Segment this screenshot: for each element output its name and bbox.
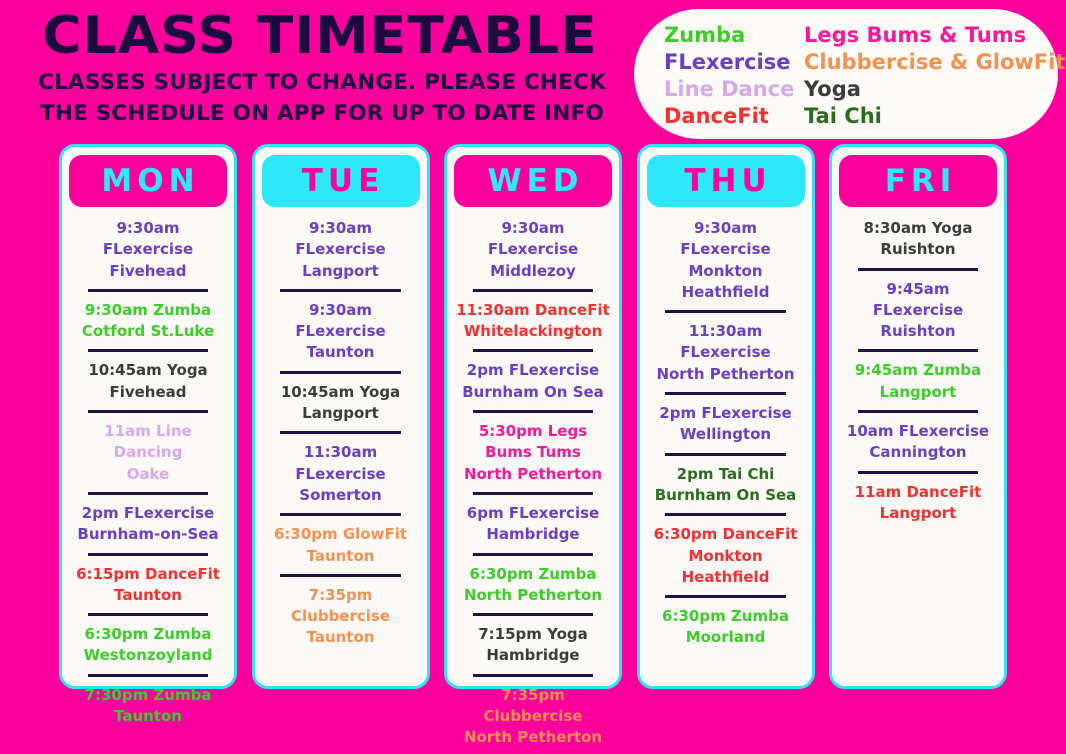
entry-divider [88,553,208,556]
entry-divider [473,349,593,352]
class-entry-location: Monkton Heathfield [649,546,803,589]
timetable-board: MON9:30am FLexerciseFivehead9:30am Zumba… [0,144,1066,689]
day-card-mon: MON9:30am FLexerciseFivehead9:30am Zumba… [59,144,237,689]
class-entry-time-and-name: 11:30am FLexercise [264,442,418,485]
entry-divider [88,289,208,292]
day-card-fri: FRI8:30am YogaRuishton9:45am FLexerciseR… [829,144,1007,689]
class-entry[interactable]: 6:30pm GlowFitTaunton [264,523,418,567]
class-entry-location: Westonzoyland [71,645,225,666]
class-entry-location: Burnham-on-Sea [71,524,225,545]
entry-divider [280,431,400,434]
day-header-tue: TUE [262,155,420,207]
class-entry-location: Somerton [264,485,418,506]
entry-divider [88,349,208,352]
class-entry[interactable]: 9:30am FLexerciseMiddlezoy [456,217,610,282]
class-entry[interactable]: 6:15pm DanceFitTaunton [71,563,225,607]
class-entry[interactable]: 11am Line DancingOake [71,420,225,485]
legend-item-zumba: Zumba [664,25,804,46]
entry-divider [473,410,593,413]
class-entry-location: North Petherton [456,727,610,748]
entry-divider [88,613,208,616]
class-entry-time-and-name: 9:45am Zumba [841,360,995,381]
header: CLASS TIMETABLE CLASSES SUBJECT TO CHANG… [0,0,640,142]
entry-divider [473,553,593,556]
class-entry-location: North Petherton [456,464,610,485]
day-header-mon: MON [69,155,227,207]
class-entry-location: Wellington [649,424,803,445]
class-list: 9:30am FLexerciseLangport9:30am FLexerci… [262,217,420,676]
entry-divider [88,410,208,413]
class-entry-time-and-name: 6:15pm DanceFit [71,564,225,585]
class-entry[interactable]: 7:30pm ZumbaTaunton [71,684,225,728]
class-entry-location: Taunton [264,342,418,363]
day-card-thu: THU9:30am FLexerciseMonkton Heathfield11… [637,144,815,689]
page-subtitle: CLASSES SUBJECT TO CHANGE. PLEASE CHECK … [18,68,626,129]
class-entry-time-and-name: 2pm Tai Chi [649,464,803,485]
class-entry[interactable]: 8:30am YogaRuishton [841,217,995,261]
entry-divider [280,289,400,292]
legend-grid: ZumbaLegs Bums & TumsFLexerciseClubberci… [664,22,1032,130]
class-entry-time-and-name: 2pm FLexercise [456,360,610,381]
class-entry-time-and-name: 7:15pm Yoga [456,624,610,645]
class-entry-location: Fivehead [71,382,225,403]
entry-divider [665,513,785,516]
class-entry[interactable]: 6:30pm ZumbaMoorland [649,605,803,649]
class-entry-time-and-name: 11:30am DanceFit [456,300,610,321]
class-entry-time-and-name: 6:30pm Zumba [71,624,225,645]
day-header-label: MON [96,166,199,197]
class-entry-time-and-name: 2pm FLexercise [71,503,225,524]
day-header-fri: FRI [839,155,997,207]
class-entry[interactable]: 2pm Tai ChiBurnham On Sea [649,463,803,507]
class-entry-location: Ruishton [841,239,995,260]
class-entry-time-and-name: 9:30am FLexercise [264,218,418,261]
class-entry-time-and-name: 9:30am FLexercise [456,218,610,261]
class-list: 9:30am FLexerciseFivehead9:30am ZumbaCot… [69,217,227,727]
entry-divider [473,613,593,616]
entry-divider [858,268,978,271]
class-entry[interactable]: 11:30am FLexerciseSomerton [264,441,418,506]
class-entry-location: Cotford St.Luke [71,321,225,342]
day-header-thu: THU [647,155,805,207]
class-entry[interactable]: 11:30am DanceFitWhitelackington [456,299,610,343]
class-entry[interactable]: 6:30pm ZumbaWestonzoyland [71,623,225,667]
entry-divider [88,492,208,495]
class-entry-location: Fivehead [71,261,225,282]
class-entry-location: Cannington [841,442,995,463]
class-entry[interactable]: 9:30am FLexerciseTaunton [264,299,418,364]
class-entry-location: Middlezoy [456,261,610,282]
class-entry[interactable]: 6:30pm ZumbaNorth Petherton [456,563,610,607]
class-entry-location: Langport [841,503,995,524]
class-entry-location: Langport [841,382,995,403]
class-entry-location: Oake [71,464,225,485]
entry-divider [88,674,208,677]
legend-item-flexercise: FLexercise [664,52,804,73]
class-entry-time-and-name: 5:30pm Legs Bums Tums [456,421,610,464]
class-entry-location: Taunton [71,706,225,727]
class-entry[interactable]: 7:15pm YogaHambridge [456,623,610,667]
class-entry-time-and-name: 10:45am Yoga [264,382,418,403]
class-entry-location: Moorland [649,627,803,648]
class-entry[interactable]: 2pm FLexerciseBurnham On Sea [456,359,610,403]
class-entry-time-and-name: 11:30am FLexercise [649,321,803,364]
page-title: CLASS TIMETABLE [0,10,650,62]
day-header-label: THU [679,166,771,197]
day-header-wed: WED [454,155,612,207]
class-entry[interactable]: 6:30pm DanceFitMonkton Heathfield [649,523,803,588]
class-entry-location: Taunton [264,627,418,648]
class-entry-location: Burnham On Sea [456,382,610,403]
class-entry[interactable]: 10am FLexerciseCannington [841,420,995,464]
class-entry-time-and-name: 6pm FLexercise [456,503,610,524]
class-entry-time-and-name: 6:30pm GlowFit [264,524,418,545]
class-entry-location: North Petherton [456,585,610,606]
class-entry-location: Taunton [71,585,225,606]
class-entry[interactable]: 10:45am YogaFivehead [71,359,225,403]
class-entry[interactable]: 9:30am FLexerciseLangport [264,217,418,282]
class-list: 8:30am YogaRuishton9:45am FLexerciseRuis… [839,217,997,676]
class-entry-time-and-name: 6:30pm DanceFit [649,524,803,545]
entry-divider [665,453,785,456]
class-entry-location: Hambridge [456,524,610,545]
entry-divider [858,410,978,413]
legend-item-clubbercise-glowfit: Clubbercise & GlowFit [804,52,1065,73]
class-entry[interactable]: 9:30am FLexerciseFivehead [71,217,225,282]
entry-divider [280,574,400,577]
class-entry[interactable]: 9:30am ZumbaCotford St.Luke [71,299,225,343]
class-entry-time-and-name: 10:45am Yoga [71,360,225,381]
class-list: 9:30am FLexerciseMiddlezoy11:30am DanceF… [454,217,612,749]
class-entry-time-and-name: 9:45am FLexercise [841,279,995,322]
legend-item-tai-chi: Tai Chi [804,106,1065,127]
class-entry-location: Taunton [264,546,418,567]
class-entry[interactable]: 2pm FLexerciseBurnham-on-Sea [71,502,225,546]
class-entry-time-and-name: 7:35pm Clubbercise [264,585,418,628]
legend-item-legs-bums-tums: Legs Bums & Tums [804,25,1065,46]
class-entry[interactable]: 11am DanceFitLangport [841,481,995,525]
class-entry-time-and-name: 9:30am FLexercise [264,300,418,343]
class-entry-time-and-name: 7:35pm Clubbercise [456,685,610,728]
class-entry-location: Burnham On Sea [649,485,803,506]
entry-divider [473,492,593,495]
class-entry-time-and-name: 9:30am FLexercise [649,218,803,261]
entry-divider [473,289,593,292]
class-entry[interactable]: 11:30am FLexerciseNorth Petherton [649,320,803,385]
entry-divider [280,371,400,374]
legend: ZumbaLegs Bums & TumsFLexerciseClubberci… [634,9,1058,139]
class-entry[interactable]: 10:45am YogaLangport [264,381,418,425]
class-entry-location: Ruishton [841,321,995,342]
class-entry-time-and-name: 9:30am FLexercise [71,218,225,261]
legend-item-yoga: Yoga [804,79,1065,100]
day-header-label: WED [482,166,583,197]
class-entry-time-and-name: 6:30pm Zumba [456,564,610,585]
class-entry[interactable]: 2pm FLexerciseWellington [649,402,803,446]
entry-divider [665,595,785,598]
day-card-wed: WED9:30am FLexerciseMiddlezoy11:30am Dan… [444,144,622,689]
class-entry-time-and-name: 8:30am Yoga [841,218,995,239]
day-card-tue: TUE9:30am FLexerciseLangport9:30am FLexe… [252,144,430,689]
class-entry[interactable]: 5:30pm Legs Bums TumsNorth Petherton [456,420,610,485]
class-entry-location: North Petherton [649,364,803,385]
class-entry[interactable]: 9:45am FLexerciseRuishton [841,278,995,343]
entry-divider [473,674,593,677]
class-entry[interactable]: 9:30am FLexerciseMonkton Heathfield [649,217,803,303]
class-entry[interactable]: 6pm FLexerciseHambridge [456,502,610,546]
entry-divider [280,513,400,516]
legend-item-line-dance: Line Dance [664,79,804,100]
class-entry-time-and-name: 2pm FLexercise [649,403,803,424]
legend-item-dancefit: DanceFit [664,106,804,127]
class-entry-location: Monkton Heathfield [649,261,803,304]
class-entry-location: Langport [264,261,418,282]
class-entry-time-and-name: 7:30pm Zumba [71,685,225,706]
entry-divider [665,392,785,395]
class-entry-time-and-name: 11am DanceFit [841,482,995,503]
day-header-label: FRI [880,166,957,197]
class-entry[interactable]: 9:45am ZumbaLangport [841,359,995,403]
class-entry[interactable]: 7:35pm ClubberciseNorth Petherton [456,684,610,749]
entry-divider [665,310,785,313]
class-entry-time-and-name: 10am FLexercise [841,421,995,442]
class-entry-location: Langport [264,403,418,424]
class-entry-time-and-name: 9:30am Zumba [71,300,225,321]
entry-divider [858,349,978,352]
class-list: 9:30am FLexerciseMonkton Heathfield11:30… [647,217,805,676]
class-entry[interactable]: 7:35pm ClubberciseTaunton [264,584,418,649]
day-header-label: TUE [297,166,385,197]
class-entry-location: Whitelackington [456,321,610,342]
entry-divider [858,471,978,474]
class-entry-time-and-name: 6:30pm Zumba [649,606,803,627]
class-entry-location: Hambridge [456,645,610,666]
class-entry-time-and-name: 11am Line Dancing [71,421,225,464]
